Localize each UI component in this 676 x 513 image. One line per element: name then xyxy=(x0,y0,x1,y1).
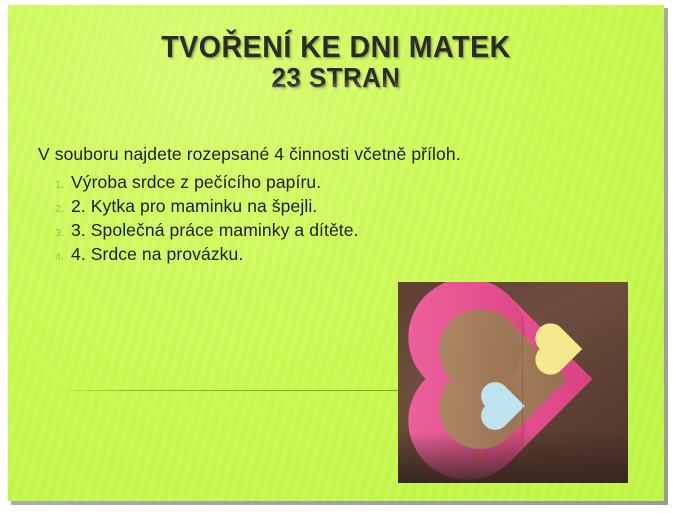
intro-paragraph: V souboru najdete rozepsané 4 činnosti v… xyxy=(37,144,597,165)
list-item-marker: 3. xyxy=(37,227,71,239)
list-item: 3. 3. Společná práce maminky a dítěte. xyxy=(37,220,597,241)
slide-frame: TVOŘENÍ KE DNI MATEK 23 STRAN 23 STRAN V… xyxy=(0,0,676,513)
list-item-label: 3. Společná práce maminky a dítěte. xyxy=(71,220,359,241)
list-item-label: 4. Srdce na provázku. xyxy=(71,244,243,265)
craft-photo xyxy=(398,282,628,483)
title-line-1: TVOŘENÍ KE DNI MATEK xyxy=(34,31,638,62)
task-list: 1. Výroba srdce z pečícího papíru. 2. 2.… xyxy=(37,172,597,265)
list-item-marker: 1. xyxy=(37,179,71,191)
paper-crease-line xyxy=(522,316,523,466)
slide-body: V souboru najdete rozepsané 4 činnosti v… xyxy=(37,144,597,268)
list-item: 4. 4. Srdce na provázku. xyxy=(37,244,597,265)
photo-vignette xyxy=(398,431,628,483)
title-line-2: 23 STRAN xyxy=(34,64,638,92)
list-item-label: Výroba srdce z pečícího papíru. xyxy=(71,172,321,193)
slide-title: TVOŘENÍ KE DNI MATEK 23 STRAN 23 STRAN xyxy=(8,31,664,113)
list-item-label: 2. Kytka pro maminku na špejli. xyxy=(71,196,317,217)
horizontal-divider xyxy=(52,390,412,391)
presentation-slide: TVOŘENÍ KE DNI MATEK 23 STRAN 23 STRAN V… xyxy=(8,5,664,501)
list-item-marker: 2. xyxy=(37,203,71,215)
list-item: 2. 2. Kytka pro maminku na špejli. xyxy=(37,196,597,217)
list-item-marker: 4. xyxy=(37,251,71,263)
list-item: 1. Výroba srdce z pečícího papíru. xyxy=(37,172,597,193)
